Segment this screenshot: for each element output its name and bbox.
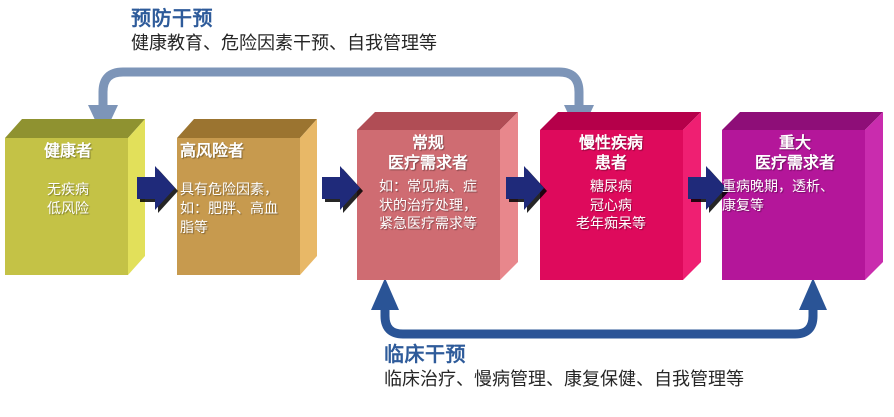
progression-arrow-4	[688, 166, 729, 213]
prevention-caption-title: 预防干预	[131, 7, 437, 31]
progression-arrow-2	[322, 166, 363, 213]
prevention-caption: 预防干预 健康教育、危险因素干预、自我管理等	[131, 7, 437, 55]
prevention-caption-body: 健康教育、危险因素干预、自我管理等	[131, 33, 437, 55]
clinical-caption-body: 临床治疗、慢病管理、康复保健、自我管理等	[384, 369, 744, 391]
clinical-caption: 临床干预 临床治疗、慢病管理、康复保健、自我管理等	[384, 343, 744, 391]
progression-arrow-1	[137, 166, 178, 213]
clinical-caption-title: 临床干预	[384, 343, 744, 367]
progression-arrow-3	[506, 166, 547, 213]
diagram-canvas: 预防干预 健康教育、危险因素干预、自我管理等 临床干预 临床治疗、慢病管理、康复…	[0, 0, 894, 417]
